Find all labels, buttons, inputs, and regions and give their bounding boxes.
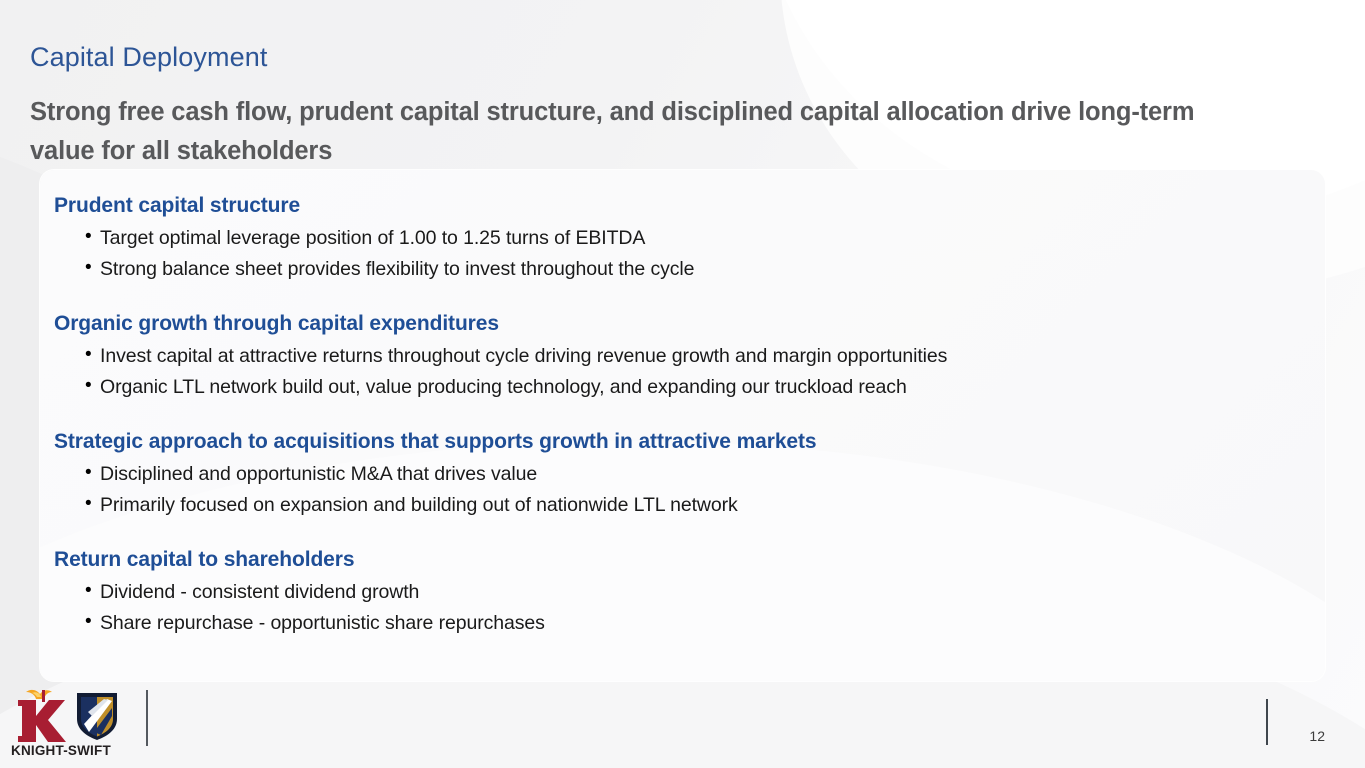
bullet-list: Dividend - consistent dividend growth Sh… (54, 577, 1325, 638)
list-item: Share repurchase - opportunistic share r… (54, 608, 1325, 639)
list-item: Strong balance sheet provides flexibilit… (54, 254, 1325, 285)
section-heading: Return capital to shareholders (54, 546, 1325, 574)
logo-divider (146, 690, 148, 746)
bullet-list: Target optimal leverage position of 1.00… (54, 223, 1325, 284)
section-heading: Strategic approach to acquisitions that … (54, 428, 1325, 456)
section-prudent-capital-structure: Prudent capital structure Target optimal… (54, 192, 1325, 284)
knight-k-torch-icon (12, 688, 70, 747)
list-item: Invest capital at attractive returns thr… (54, 341, 1325, 372)
section-organic-growth: Organic growth through capital expenditu… (54, 310, 1325, 402)
footer: KNIGHT-SWIFT 12 (0, 682, 1365, 768)
content-card: Prudent capital structure Target optimal… (40, 170, 1325, 681)
sections-container: Prudent capital structure Target optimal… (40, 170, 1325, 638)
page-title: Capital Deployment (30, 42, 267, 73)
swift-shield-icon (74, 690, 120, 747)
list-item: Target optimal leverage position of 1.00… (54, 223, 1325, 254)
logo-wordmark: KNIGHT-SWIFT (11, 743, 111, 758)
page-subtitle: Strong free cash flow, prudent capital s… (30, 93, 1220, 171)
list-item: Primarily focused on expansion and build… (54, 490, 1325, 521)
bullet-list: Invest capital at attractive returns thr… (54, 341, 1325, 402)
section-heading: Prudent capital structure (54, 192, 1325, 220)
list-item: Organic LTL network build out, value pro… (54, 372, 1325, 403)
section-strategic-acquisitions: Strategic approach to acquisitions that … (54, 428, 1325, 520)
company-logo: KNIGHT-SWIFT (8, 688, 140, 760)
bullet-list: Disciplined and opportunistic M&A that d… (54, 459, 1325, 520)
list-item: Disciplined and opportunistic M&A that d… (54, 459, 1325, 490)
page-number: 12 (1309, 728, 1325, 744)
footer-divider (1266, 699, 1268, 745)
slide: Capital Deployment Strong free cash flow… (0, 0, 1365, 768)
section-heading: Organic growth through capital expenditu… (54, 310, 1325, 338)
section-return-capital: Return capital to shareholders Dividend … (54, 546, 1325, 638)
list-item: Dividend - consistent dividend growth (54, 577, 1325, 608)
